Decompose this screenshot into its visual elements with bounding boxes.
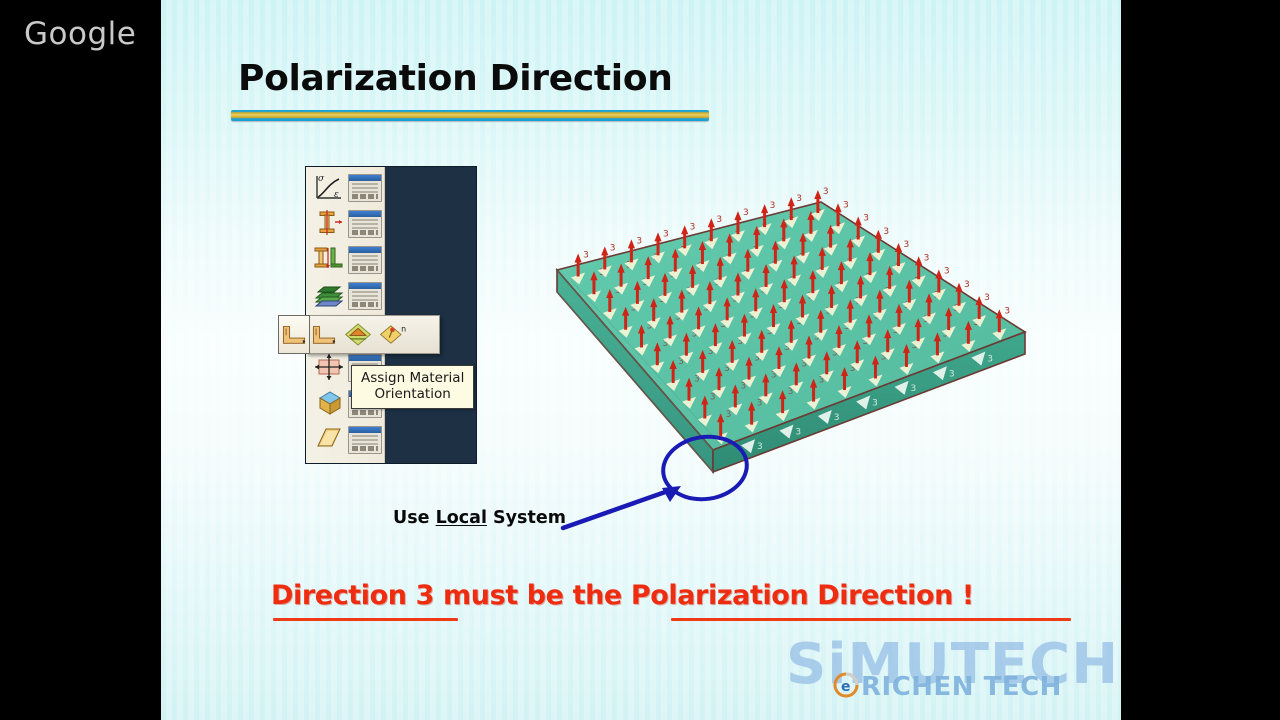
special-mesh-controls-icon[interactable] [312, 352, 346, 382]
edge-arrow-label: 3 [872, 398, 878, 408]
arrow-direction-label: 3 [863, 214, 869, 224]
direction-3-arrowhead [915, 256, 922, 265]
beam-section-icon[interactable] [312, 208, 346, 238]
direction-3-arrowhead [628, 239, 635, 248]
arrow-direction-label: 3 [726, 410, 732, 420]
arrow-direction-label: 3 [796, 194, 802, 204]
slide-title: Polarization Direction [238, 58, 673, 99]
edge-arrow-label: 3 [949, 369, 955, 379]
fem-plate-model: 3333333333333333333333333333333333333333… [541, 180, 1041, 480]
arrow-direction-label: 3 [1004, 306, 1010, 316]
svg-text:e: e [841, 679, 851, 695]
material-orientation-flyout[interactable]: n [306, 315, 440, 354]
arrow-direction-label: 3 [904, 240, 910, 250]
direction-3-arrowhead [935, 270, 942, 279]
direction-3-arrowhead [734, 211, 741, 220]
arrow-direction-label: 3 [770, 201, 776, 211]
assign-material-orientation-tooltip: Assign Material Orientation [351, 365, 474, 409]
richentech-watermark-text: RICHEN TECH [861, 672, 1062, 702]
arrow-direction-label: 3 [743, 208, 749, 218]
key-statement-text: Direction 3 must be the Polarization Dir… [271, 580, 1071, 611]
direction-3-arrowhead [601, 246, 608, 255]
edge-arrow-label: 3 [987, 355, 993, 365]
screenshot-root: Google Polarization Direction σ ε [0, 0, 1280, 720]
statement-underline-right [671, 618, 1071, 621]
assign-tangent-direction-icon[interactable]: n [379, 320, 409, 349]
direction-3-arrowhead [895, 243, 902, 252]
direction-3-arrowhead [855, 217, 862, 226]
arrow-direction-label: 3 [710, 392, 716, 402]
create-section-dialog-icon[interactable] [348, 210, 382, 238]
google-watermark: Google [24, 16, 136, 52]
arrow-direction-label: 3 [924, 253, 930, 263]
key-statement: Direction 3 must be the Polarization Dir… [271, 580, 1071, 611]
title-underline-bar [231, 110, 709, 121]
arrow-direction-label: 3 [984, 293, 990, 303]
shell-section-icon[interactable] [312, 424, 346, 454]
beam-profile-icon[interactable] [312, 244, 346, 274]
stress-strain-curve-icon[interactable]: σ ε [312, 172, 346, 202]
direction-3-arrowhead [814, 190, 821, 199]
arrow-direction-label: 3 [883, 227, 889, 237]
statement-underline-left [273, 618, 458, 621]
arrow-direction-label: 3 [944, 267, 950, 277]
richentech-logo-icon: e [833, 672, 859, 698]
create-profile-dialog-icon[interactable] [348, 246, 382, 274]
arrow-direction-label: 3 [823, 187, 829, 197]
assign-material-orientation-icon [279, 320, 309, 349]
letterbox-left [0, 0, 161, 720]
direction-3-arrowhead [834, 203, 841, 212]
use-local-suffix: System [487, 508, 566, 528]
abaqus-toolbar-panel: σ ε [305, 166, 477, 464]
arrow-direction-label: 3 [610, 243, 616, 253]
arrow-direction-label: 3 [964, 280, 970, 290]
use-local-prefix: Use [393, 508, 436, 528]
use-local-underlined: Local [436, 508, 487, 528]
direction-3-arrowhead [875, 230, 882, 239]
direction-3-arrowhead [681, 225, 688, 234]
direction-3-arrowhead [761, 204, 768, 213]
assign-material-orientation-alt-icon[interactable] [309, 320, 339, 349]
direction-3-arrowhead [955, 283, 962, 292]
manage-section-dialog-icon[interactable] [348, 426, 382, 454]
letterbox-right [1121, 0, 1280, 720]
create-layup-dialog-icon[interactable] [348, 282, 382, 310]
edge-arrow-label: 3 [834, 413, 840, 423]
richentech-watermark: RICHEN TECH [861, 672, 1062, 702]
create-material-dialog-icon[interactable] [348, 174, 382, 202]
direction-3-arrowhead [788, 197, 795, 206]
arrow-direction-label: 3 [636, 236, 642, 246]
direction-3-arrowhead [654, 232, 661, 241]
assign-normal-direction-icon[interactable] [343, 320, 373, 349]
direction-3-arrowhead [708, 218, 715, 227]
assign-material-orientation-button[interactable] [278, 315, 310, 354]
arrow-direction-label: 3 [583, 250, 589, 260]
svg-text:ε: ε [334, 190, 339, 200]
edge-arrow-label: 3 [911, 384, 917, 394]
use-local-system-label: Use Local System [393, 508, 566, 528]
svg-text:σ: σ [318, 174, 325, 184]
arrow-direction-label: 3 [757, 399, 763, 409]
edge-arrow-label: 3 [795, 428, 801, 438]
arrow-direction-label: 3 [690, 222, 696, 232]
flyout-superscript-label: n [401, 324, 406, 333]
direction-3-arrowhead [575, 253, 582, 262]
arrow-direction-label: 3 [716, 215, 722, 225]
presentation-slide: Polarization Direction σ ε [161, 0, 1121, 720]
tooltip-line-2: Orientation [361, 386, 464, 402]
composite-layup-icon[interactable] [312, 280, 346, 310]
solid-section-icon[interactable] [312, 388, 346, 418]
tooltip-line-1: Assign Material [361, 370, 464, 386]
plate-svg: 3333333333333333333333333333333333333333… [541, 180, 1041, 480]
arrow-direction-label: 3 [843, 200, 849, 210]
edge-arrow-label: 3 [757, 442, 763, 452]
annotation-arrow [559, 480, 689, 540]
arrow-direction-label: 3 [663, 229, 669, 239]
